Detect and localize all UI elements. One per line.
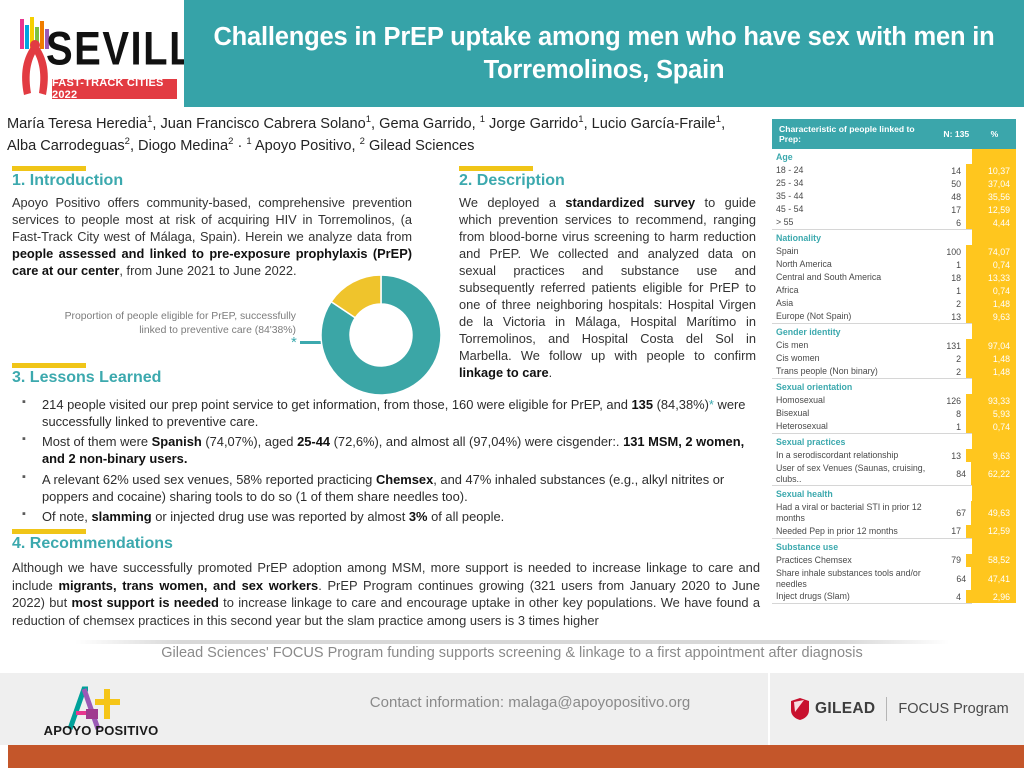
table-cell-n: 1 xyxy=(927,422,966,432)
table-cell-label: Practices Chemsex xyxy=(772,554,927,567)
list-item: 214 people visited our prep point servic… xyxy=(14,396,759,430)
table-group-label: Gender identity xyxy=(772,323,972,339)
table-group-gender-identity: Gender identity xyxy=(772,323,1016,339)
table-cell-n: 2 xyxy=(927,367,966,377)
focus-program-label: FOCUS Program xyxy=(898,701,1008,717)
table-cell-pct: 1,48 xyxy=(966,352,1016,365)
table-cell-pct: 12,59 xyxy=(966,203,1016,216)
recommendations-heading: 4. Recommendations xyxy=(12,535,173,553)
table-cell-n: 84 xyxy=(936,469,971,479)
sevilla-logo: SEVILLA FAST-TRACK CITIES 2022 xyxy=(8,5,180,103)
table-cell-pct: 2,96 xyxy=(966,590,1016,603)
table-row: In a serodiscordant relationship139,63 xyxy=(772,449,1016,462)
table-cell-label: Africa xyxy=(772,284,927,297)
table-row: Cis men13197,04 xyxy=(772,339,1016,352)
table-row: Spain10074,07 xyxy=(772,245,1016,258)
intro-accent-bar xyxy=(12,166,86,171)
characteristics-table: Characteristic of people linked to Prep:… xyxy=(772,119,1016,605)
table-cell-label: 45 - 54 xyxy=(772,203,927,216)
table-group-sexual-practices: Sexual practices xyxy=(772,433,1016,449)
table-row: North America10,74 xyxy=(772,258,1016,271)
donut-chart-caption: Proportion of people eligible for PrEP, … xyxy=(60,310,296,338)
table-cell-pct: 58,52 xyxy=(966,554,1016,567)
table-cell-pct: 10,37 xyxy=(966,164,1016,177)
table-group-sexual-health: Sexual health xyxy=(772,485,1016,501)
gilead-shield-icon xyxy=(790,697,810,721)
table-cell-pct: 9,63 xyxy=(966,310,1016,323)
table-cell-label: Homosexual xyxy=(772,394,927,407)
table-group-substance-use: Substance use xyxy=(772,538,1016,554)
description-heading: 2. Description xyxy=(459,172,565,190)
description-text: We deployed a standardized survey to gui… xyxy=(459,194,756,381)
table-cell-label: Bisexual xyxy=(772,407,927,420)
table-cell-n: 1 xyxy=(927,286,966,296)
table-cell-label: 25 - 34 xyxy=(772,177,927,190)
intro-text: Apoyo Positivo offers community-based, c… xyxy=(12,194,412,279)
table-group-label: Sexual practices xyxy=(772,433,972,449)
table-row: Europe (Not Spain)139,63 xyxy=(772,310,1016,323)
table-cell-n: 18 xyxy=(927,273,966,283)
description-accent-bar xyxy=(459,166,533,171)
table-cell-pct: 12,59 xyxy=(966,525,1016,538)
table-header-pct: % xyxy=(973,129,1016,139)
table-row: User of sex Venues (Saunas, cruising, cl… xyxy=(772,462,1016,485)
table-group-label: Sexual health xyxy=(772,485,972,501)
table-cell-pct: 0,74 xyxy=(966,258,1016,271)
table-cell-label: In a serodiscordant relationship xyxy=(772,449,927,462)
author-line-1: María Teresa Heredia1, Juan Francisco Ca… xyxy=(7,113,762,135)
table-cell-pct: 37,04 xyxy=(966,177,1016,190)
table-cell-pct: 9,63 xyxy=(966,449,1016,462)
lessons-accent-bar xyxy=(12,363,86,368)
donut-asterisk: * xyxy=(291,334,297,351)
table-row: 45 - 541712,59 xyxy=(772,203,1016,216)
contact-information: Contact information: malaga@apoyopositiv… xyxy=(300,694,760,711)
recommendations-accent-bar xyxy=(12,529,86,534)
table-cell-pct: 49,63 xyxy=(971,501,1016,524)
table-cell-label: Asia xyxy=(772,297,927,310)
table-row: Central and South America1813,33 xyxy=(772,271,1016,284)
donut-chart-svg xyxy=(318,272,444,398)
intro-heading: 1. Introduction xyxy=(12,172,123,190)
table-cell-pct: 93,33 xyxy=(966,394,1016,407)
table-cell-n: 6 xyxy=(927,218,966,228)
table-cell-label: Trans people (Non binary) xyxy=(772,365,927,378)
table-cell-pct: 4,44 xyxy=(966,216,1016,229)
table-group-nationality: Nationality xyxy=(772,229,1016,245)
author-line-2: Alba Carrodeguas2, Diogo Medina2 · 1 Apo… xyxy=(7,135,762,157)
table-row: Trans people (Non binary)21,48 xyxy=(772,365,1016,378)
table-cell-label: User of sex Venues (Saunas, cruising, cl… xyxy=(772,462,936,485)
table-cell-n: 13 xyxy=(927,451,966,461)
table-cell-n: 64 xyxy=(936,574,971,584)
table-cell-n: 4 xyxy=(927,592,966,602)
table-group-label: Age xyxy=(772,149,972,164)
title-band: Challenges in PrEP uptake among men who … xyxy=(184,0,1024,107)
table-cell-n: 14 xyxy=(927,166,966,176)
table-group-label: Nationality xyxy=(772,229,972,245)
table-cell-label: Needed Pep in prior 12 months xyxy=(772,525,927,538)
gilead-focus-logo: GILEAD FOCUS Program xyxy=(790,692,1020,726)
lessons-bullet-list: 214 people visited our prep point servic… xyxy=(14,396,759,528)
footer-vertical-divider xyxy=(768,673,770,745)
table-cell-label: Inject drugs (Slam) xyxy=(772,590,927,603)
gilead-separator xyxy=(886,697,887,721)
table-cell-label: > 55 xyxy=(772,216,927,229)
table-cell-n: 131 xyxy=(927,341,966,351)
gilead-wordmark: GILEAD xyxy=(815,700,875,718)
list-item: Most of them were Spanish (74,07%), aged… xyxy=(14,433,759,467)
table-endcap xyxy=(772,603,1016,605)
recommendations-text: Although we have successfully promoted P… xyxy=(12,559,760,629)
footer-divider xyxy=(75,640,949,644)
apoyo-positivo-name: APOYO POSITIVO xyxy=(38,723,164,738)
table-group-label: Sexual orientation xyxy=(772,378,972,394)
table-cell-pct: 1,48 xyxy=(966,297,1016,310)
table-row: > 5564,44 xyxy=(772,216,1016,229)
table-cell-n: 126 xyxy=(927,396,966,406)
table-cell-n: 48 xyxy=(927,192,966,202)
table-cell-n: 8 xyxy=(927,409,966,419)
table-cell-n: 17 xyxy=(927,205,966,215)
table-header-row: Characteristic of people linked to Prep:… xyxy=(772,119,1016,149)
table-cell-pct: 97,04 xyxy=(966,339,1016,352)
table-cell-label: Had a viral or bacterial STI in prior 12… xyxy=(772,501,936,524)
table-row: Bisexual85,93 xyxy=(772,407,1016,420)
table-cell-label: North America xyxy=(772,258,927,271)
table-cell-pct: 13,33 xyxy=(966,271,1016,284)
table-cell-label: Share inhale substances tools and/or nee… xyxy=(772,567,936,590)
fast-track-cities-badge: FAST-TRACK CITIES 2022 xyxy=(52,79,177,99)
poster-root: SEVILLA FAST-TRACK CITIES 2022 Challenge… xyxy=(0,0,1024,768)
table-row: Cis women21,48 xyxy=(772,352,1016,365)
table-cell-n: 50 xyxy=(927,179,966,189)
table-row: Inject drugs (Slam)42,96 xyxy=(772,590,1016,603)
poster-header: SEVILLA FAST-TRACK CITIES 2022 Challenge… xyxy=(0,0,1024,107)
table-cell-n: 2 xyxy=(927,354,966,364)
table-row: Homosexual12693,33 xyxy=(772,394,1016,407)
table-row: Had a viral or bacterial STI in prior 12… xyxy=(772,501,1016,524)
table-row: 25 - 345037,04 xyxy=(772,177,1016,190)
footer-orange-bar xyxy=(8,745,1024,768)
table-cell-n: 2 xyxy=(927,299,966,309)
table-cell-label: Central and South America xyxy=(772,271,927,284)
table-row: Asia21,48 xyxy=(772,297,1016,310)
table-cell-label: Heterosexual xyxy=(772,420,927,433)
table-cell-pct: 0,74 xyxy=(966,284,1016,297)
table-cell-pct: 62,22 xyxy=(971,462,1016,485)
donut-chart xyxy=(318,272,444,398)
table-row: Share inhale substances tools and/or nee… xyxy=(772,567,1016,590)
table-header-characteristic: Characteristic of people linked to Prep: xyxy=(772,120,940,148)
table-group-age: Age xyxy=(772,149,1016,164)
page-title: Challenges in PrEP uptake among men who … xyxy=(184,21,1024,86)
table-cell-label: 35 - 44 xyxy=(772,190,927,203)
table-cell-label: 18 - 24 xyxy=(772,164,927,177)
author-list: María Teresa Heredia1, Juan Francisco Ca… xyxy=(7,113,762,157)
table-cell-n: 13 xyxy=(927,312,966,322)
list-item: A relevant 62% used sex venues, 58% repo… xyxy=(14,471,759,505)
list-item: Of note, slamming or injected drug use w… xyxy=(14,508,759,525)
table-row: Practices Chemsex7958,52 xyxy=(772,554,1016,567)
table-cell-label: Cis men xyxy=(772,339,927,352)
table-row: Needed Pep in prior 12 months1712,59 xyxy=(772,525,1016,538)
table-header-n: N: 135 xyxy=(940,129,973,139)
lessons-heading: 3. Lessons Learned xyxy=(12,369,161,387)
table-row: Heterosexual10,74 xyxy=(772,420,1016,433)
table-cell-pct: 74,07 xyxy=(966,245,1016,258)
table-row: 35 - 444835,56 xyxy=(772,190,1016,203)
table-cell-pct: 35,56 xyxy=(966,190,1016,203)
table-cell-n: 79 xyxy=(927,555,966,565)
table-cell-pct: 5,93 xyxy=(966,407,1016,420)
table-cell-label: Spain xyxy=(772,245,927,258)
table-cell-pct: 0,74 xyxy=(966,420,1016,433)
table-group-label: Substance use xyxy=(772,538,972,554)
footer-tagline: Gilead Sciences' FOCUS Program funding s… xyxy=(0,645,1024,661)
table-cell-pct: 1,48 xyxy=(966,365,1016,378)
table-cell-n: 67 xyxy=(936,508,971,518)
table-group-sexual-orientation: Sexual orientation xyxy=(772,378,1016,394)
table-cell-label: Cis women xyxy=(772,352,927,365)
table-cell-n: 1 xyxy=(927,260,966,270)
table-row: 18 - 241410,37 xyxy=(772,164,1016,177)
table-cell-label: Europe (Not Spain) xyxy=(772,310,927,323)
table-cell-pct: 47,41 xyxy=(971,567,1016,590)
table-row: Africa10,74 xyxy=(772,284,1016,297)
table-cell-n: 17 xyxy=(927,526,966,536)
table-cell-n: 100 xyxy=(927,247,966,257)
